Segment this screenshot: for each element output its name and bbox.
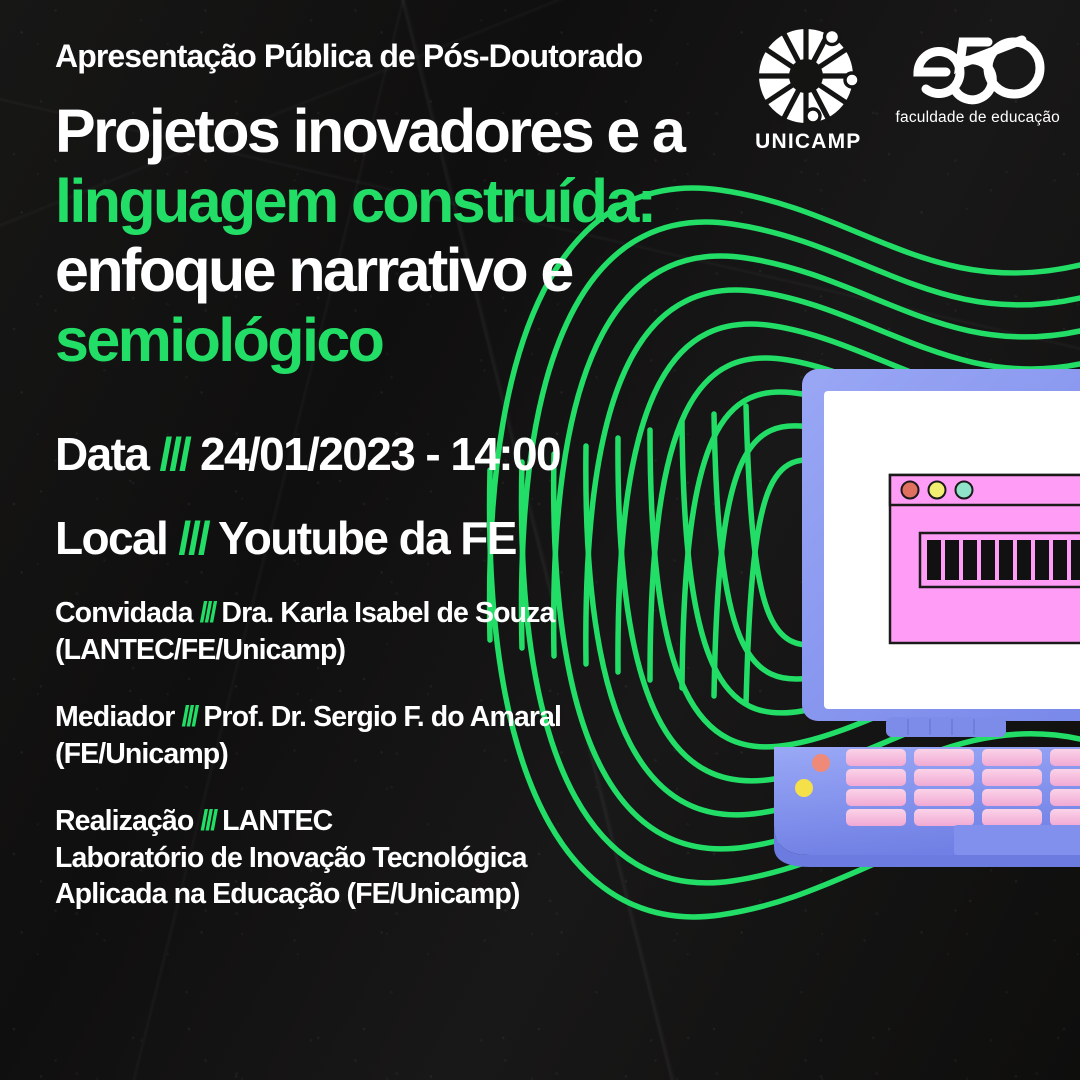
slash-separator: /// [200, 805, 215, 837]
meta-row-data: Data /// 24/01/2023 - 14:00 [55, 427, 775, 481]
meta-value-data: 24/01/2023 - 14:00 [200, 428, 560, 480]
credit-value: Prof. Dr. Sergio F. do Amaral [203, 701, 561, 733]
content-column: Apresentação Pública de Pós-Doutorado Pr… [55, 0, 775, 913]
progress-bar [920, 533, 1080, 587]
logo-group: UNICAMP faculdade de educação [755, 28, 1060, 154]
title-line-2: linguagem construída: [55, 167, 775, 237]
slash-separator: /// [200, 597, 215, 629]
kicker-text: Apresentação Pública de Pós-Doutorado [55, 38, 775, 75]
credit-label: Convidada [55, 597, 193, 629]
realizacao-value: LANTEC [222, 805, 332, 837]
screen-window [890, 475, 1080, 643]
slash-separator: /// [182, 701, 197, 733]
title-line-3: enfoque narrativo e [55, 236, 775, 306]
event-meta: Data /// 24/01/2023 - 14:00 Local /// Yo… [55, 427, 775, 565]
trackpad [954, 825, 1080, 855]
credits-section: Convidada /// Dra. Karla Isabel de Souza… [55, 595, 775, 773]
credit-line-main: Convidada /// Dra. Karla Isabel de Souza [55, 595, 775, 632]
meta-row-local: Local /// Youtube da FE [55, 511, 775, 565]
credit-convidada: Convidada /// Dra. Karla Isabel de Souza… [55, 595, 775, 669]
title-line-4: semiológico [55, 306, 775, 376]
fe-logo: faculdade de educação [896, 28, 1061, 127]
page-title: Projetos inovadores e a linguagem constr… [55, 97, 775, 375]
laptop-hinge [886, 717, 1006, 737]
realizacao-line-2: Laboratório de Inovação Tecnológica [55, 840, 775, 876]
slash-separator: /// [160, 428, 189, 480]
meta-label-local: Local [55, 512, 167, 564]
credit-affiliation: (LANTEC/FE/Unicamp) [55, 632, 775, 669]
e50-anniversary-icon [902, 28, 1054, 106]
realizacao-line-main: Realização /// LANTEC [55, 803, 775, 839]
laptop-base [774, 747, 1080, 867]
meta-value-local: Youtube da FE [218, 512, 516, 564]
credit-mediador: Mediador /// Prof. Dr. Sergio F. do Amar… [55, 699, 775, 773]
credit-affiliation: (FE/Unicamp) [55, 736, 775, 773]
credit-label: Mediador [55, 701, 174, 733]
meta-label-data: Data [55, 428, 148, 480]
fe-wordmark: faculdade de educação [896, 109, 1061, 127]
realizacao-section: Realização /// LANTEC Laboratório de Ino… [55, 803, 775, 912]
poster-canvas: UNICAMP faculdade de educação [0, 0, 1080, 1080]
credit-value: Dra. Karla Isabel de Souza [221, 597, 554, 629]
slash-separator: /// [178, 512, 207, 564]
realizacao-label: Realização [55, 805, 193, 837]
credit-line-main: Mediador /// Prof. Dr. Sergio F. do Amar… [55, 699, 775, 736]
title-line-1: Projetos inovadores e a [55, 97, 775, 167]
realizacao-line-3: Aplicada na Educação (FE/Unicamp) [55, 876, 775, 912]
